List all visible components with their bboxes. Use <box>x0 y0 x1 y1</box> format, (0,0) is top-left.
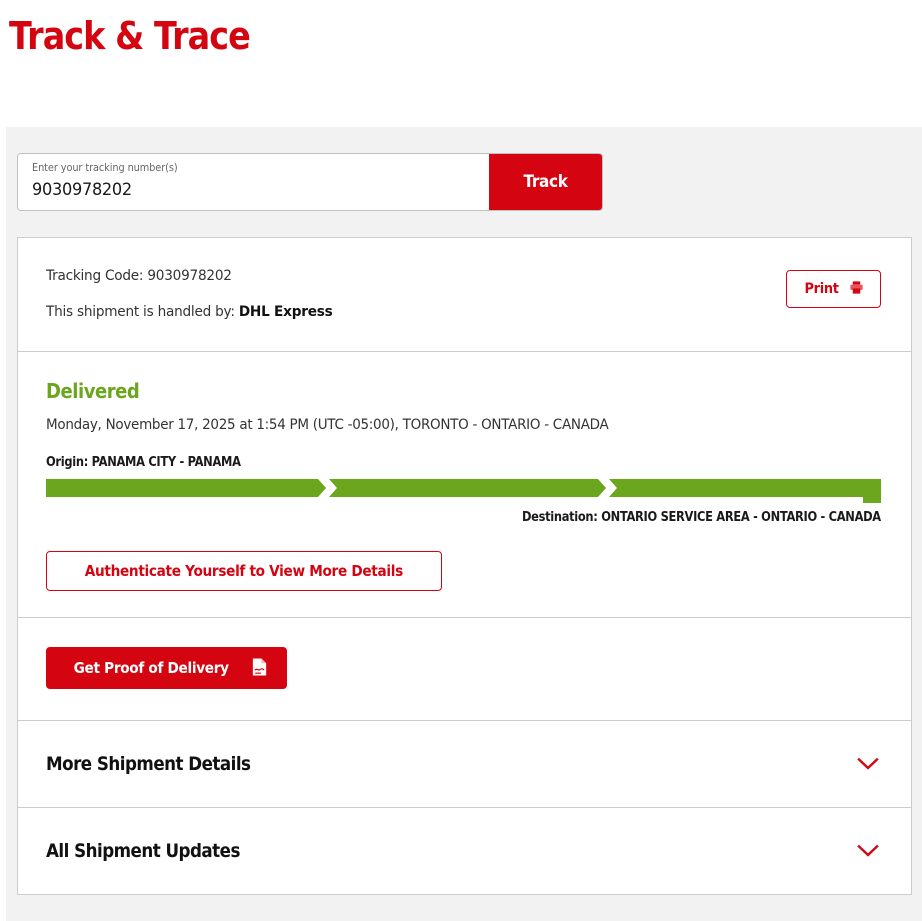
accordion-more-shipment-details[interactable]: More Shipment Details <box>18 721 911 807</box>
status-timestamp: Monday, November 17, 2025 at 1:54 PM (UT… <box>46 415 824 435</box>
tracking-number-field[interactable]: Enter your tracking number(s) <box>18 154 489 210</box>
carrier-name: DHL Express <box>239 304 333 320</box>
status-badge: Delivered <box>46 379 799 403</box>
origin-label: Origin: PANAMA CITY - PANAMA <box>46 455 783 471</box>
authenticate-button[interactable]: Authenticate Yourself to View More Detai… <box>46 551 442 591</box>
tracking-number-label: Enter your tracking number(s) <box>32 161 444 175</box>
authenticate-button-label: Authenticate Yourself to View More Detai… <box>85 562 403 580</box>
get-proof-of-delivery-button[interactable]: Get Proof of Delivery <box>46 647 287 689</box>
handled-by-prefix: This shipment is handled by: <box>46 304 235 320</box>
accordion-all-shipment-updates[interactable]: All Shipment Updates <box>18 808 911 894</box>
progress-segment-1 <box>46 479 326 497</box>
proof-of-delivery-label: Get Proof of Delivery <box>74 659 229 677</box>
progress-segment-3 <box>609 479 881 503</box>
printer-icon <box>849 280 864 298</box>
chevron-down-icon[interactable] <box>855 838 881 864</box>
accordion-label: More Shipment Details <box>46 753 250 775</box>
proof-of-delivery-section: Get Proof of Delivery <box>18 618 911 720</box>
print-button[interactable]: Print <box>786 270 881 308</box>
document-signature-icon <box>250 657 269 680</box>
accordion-label: All Shipment Updates <box>46 840 240 862</box>
page-header: Track & Trace <box>0 0 922 127</box>
shipment-status-section: Delivered Monday, November 17, 2025 at 1… <box>18 352 911 617</box>
shipment-progress: Origin: PANAMA CITY - PANAMA Destination… <box>46 455 883 526</box>
shipment-result-card: Tracking Code: 9030978202 This shipment … <box>17 237 912 895</box>
progress-bar <box>46 479 881 503</box>
destination-label-text: Destination: ONTARIO SERVICE AREA - ONTA… <box>522 510 881 526</box>
tracking-code-text: Tracking Code: 9030978202 <box>46 266 833 286</box>
print-button-label: Print <box>804 281 838 297</box>
track-button-label: Track <box>523 172 567 192</box>
track-button[interactable]: Track <box>489 154 602 210</box>
shipment-header-section: Tracking Code: 9030978202 This shipment … <box>18 238 911 351</box>
track-and-trace-page: Track & Trace Enter your tracking number… <box>0 0 922 921</box>
page-title: Track & Trace <box>9 9 250 63</box>
tracking-search-bar: Enter your tracking number(s) Track <box>17 153 603 211</box>
chevron-down-icon[interactable] <box>855 751 881 777</box>
destination-label: Destination: ONTARIO SERVICE AREA - ONTA… <box>46 510 881 526</box>
handled-by-text: This shipment is handled by: DHL Express <box>46 302 833 322</box>
search-input[interactable] <box>32 177 453 203</box>
progress-segment-2 <box>329 479 606 497</box>
